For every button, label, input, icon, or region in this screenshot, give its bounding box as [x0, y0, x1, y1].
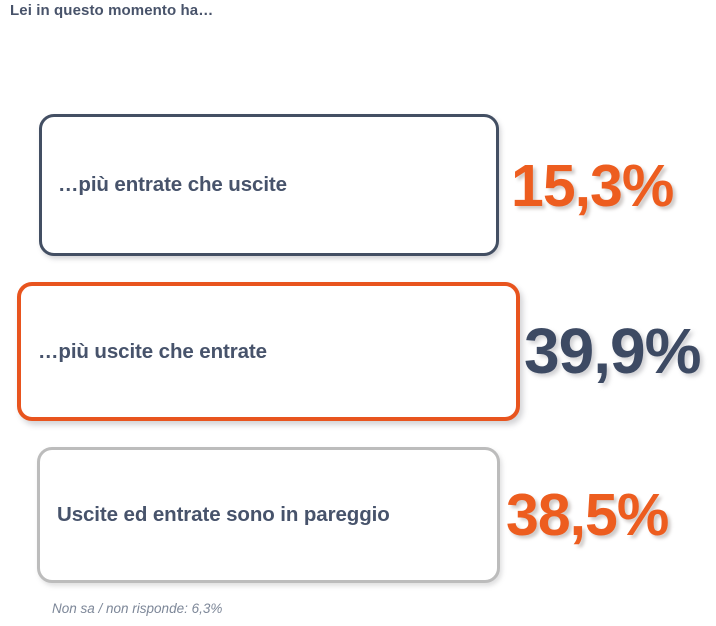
bar-value-label: 15,3% [511, 157, 673, 216]
bar-label: …più uscite che entrate [38, 340, 267, 364]
page-title: Lei in questo momento ha… [10, 2, 213, 19]
bar-box-piu-uscite-che-entrate[interactable]: …più uscite che entrate [17, 282, 520, 421]
bar-label: …più entrate che uscite [58, 173, 287, 197]
bar-box-piu-entrate-che-uscite[interactable]: …più entrate che uscite [39, 114, 499, 256]
bar-box-uscite-ed-entrate-pareggio[interactable]: Uscite ed entrate sono in pareggio [37, 447, 500, 583]
bar-label: Uscite ed entrate sono in pareggio [57, 503, 390, 527]
bar-value-label: 39,9% [524, 319, 700, 383]
footnote-non-sa-non-risponde: Non sa / non risponde: 6,3% [52, 601, 222, 616]
bar-value-label: 38,5% [506, 486, 668, 545]
